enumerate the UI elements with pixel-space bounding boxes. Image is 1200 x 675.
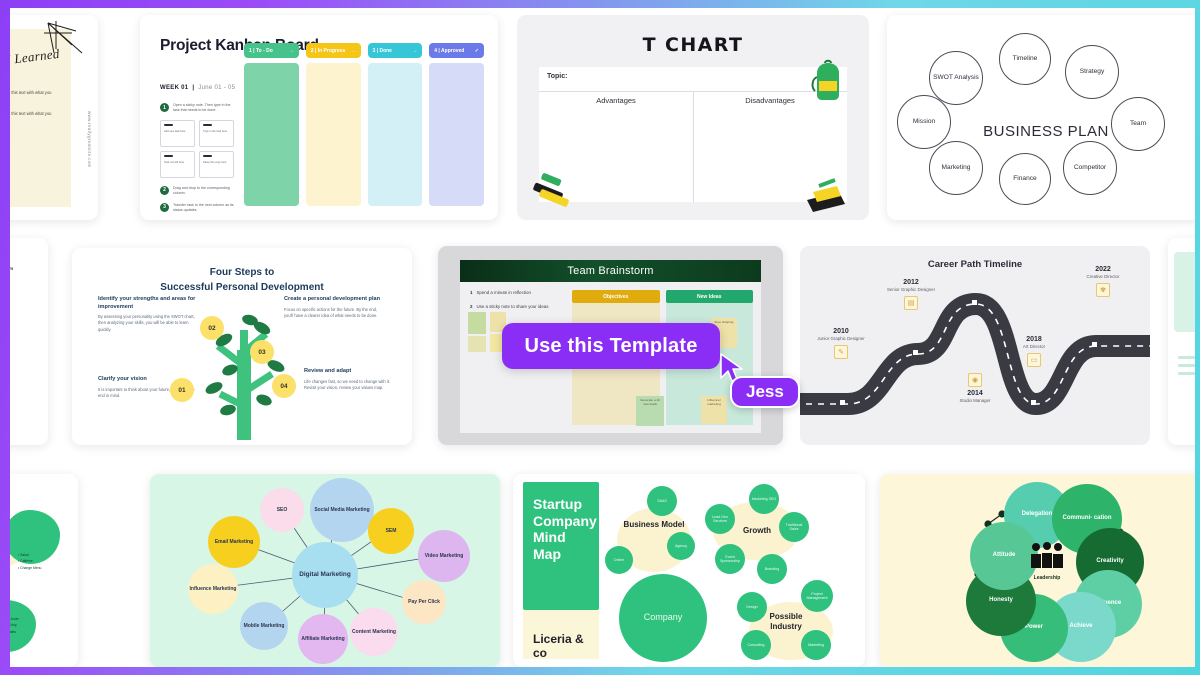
sticky-note-thumb: Task not still here: [160, 151, 195, 178]
template-card-leadership[interactable]: Delegation Communi- cation Creativity In…: [880, 474, 1195, 667]
sticky-note[interactable]: Influencer marketing: [701, 396, 727, 424]
use-this-template-button[interactable]: Use this Template: [502, 323, 720, 369]
kanban-column-header: 4 | Approved✓: [429, 43, 484, 58]
startup-brand-panel: Liceria & co: [523, 610, 599, 659]
decorative-shape: [1174, 252, 1195, 332]
sticky-note-thumb: Type in the task here: [199, 120, 234, 147]
startup-brand: Liceria & co: [533, 632, 589, 661]
business-plan-center-label: BUSINESS PLAN: [887, 123, 1195, 140]
kanban-column-body[interactable]: [368, 63, 423, 206]
business-plan-node[interactable]: SWOT Analysis: [929, 51, 983, 105]
business-plan-node[interactable]: Strategy: [1065, 45, 1119, 99]
pencil-icon: ✎: [834, 345, 848, 359]
kanban-column-body[interactable]: [429, 63, 484, 206]
kanban-column-header: 2 | In Progress→: [306, 43, 361, 58]
bubble-consulting[interactable]: Consulting: [741, 630, 771, 660]
mindmap-node-influence[interactable]: Influence Marketing: [188, 564, 238, 614]
topic-label: Topic:: [539, 67, 847, 80]
t-chart-sheet: Topic: Advantages Disadvantages: [539, 67, 847, 202]
mindmap-node-seo[interactable]: SEO: [260, 488, 304, 532]
bubble-saas[interactable]: SAAS: [647, 486, 677, 516]
list-item: You can replace this text with what you …: [10, 110, 58, 124]
startup-title-panel: Startup Company Mind Map: [523, 482, 599, 610]
gear-icon: ✾: [1096, 283, 1110, 297]
list-item: 2 Drag and drop to the corresponding col…: [160, 186, 238, 197]
timeline-node-2012: 2012 Senior Graphic Designer ▤: [880, 279, 942, 310]
startup-sidebar: Startup Company Mind Map Liceria & co: [523, 482, 599, 659]
template-card-four-steps[interactable]: Four Steps to Successful Personal Develo…: [72, 248, 412, 445]
mindmap-node-email[interactable]: Email Marketing: [208, 516, 260, 568]
template-card-career-timeline[interactable]: Career Path Timeline 2010 Junior Graphic…: [800, 246, 1150, 445]
startup-title: Startup Company Mind Map: [533, 496, 589, 562]
brainstorm-title: Team Brainstorm: [567, 265, 653, 277]
kanban-column[interactable]: 4 | Approved✓: [429, 43, 484, 206]
kanban-column-body[interactable]: [306, 63, 361, 206]
mindmap-node-content[interactable]: Content Marketing: [350, 608, 398, 656]
business-plan-node[interactable]: Finance: [999, 153, 1051, 205]
kanban-column-label: 2 | In Progress: [311, 48, 345, 54]
divider: [693, 91, 694, 202]
group-label-possible-industry: Possible Industry: [755, 612, 817, 631]
brainstorm-banner: Team Brainstorm: [460, 260, 761, 282]
decorative-line: [1178, 372, 1195, 375]
team-icon: [1027, 542, 1067, 568]
kanban-column[interactable]: 2 | In Progress→: [306, 43, 361, 206]
bubble-branding[interactable]: Branding: [757, 554, 787, 584]
bubble-marketing[interactable]: Marketing: [801, 630, 831, 660]
timeline-node-2010: 2010 Junior Graphic Designer ✎: [810, 328, 872, 359]
template-card-partial-left[interactable]: To Brainstorm: [10, 238, 48, 445]
mindmap-node-ppc[interactable]: Pay Per Click: [402, 580, 446, 624]
kanban-column-body[interactable]: [244, 63, 299, 206]
bubble-event-sponsorship[interactable]: Event Sponsorship: [715, 544, 745, 574]
backpack-illustration: [805, 59, 851, 103]
business-plan-node[interactable]: Marketing: [929, 141, 983, 195]
kanban-column[interactable]: 3 | Done→: [368, 43, 423, 206]
business-plan-node[interactable]: Mission: [897, 95, 951, 149]
step-badge-01: 01: [170, 378, 194, 402]
what-learned-bullets: You can replace this text with what you …: [10, 89, 58, 132]
decorative-line: [1178, 356, 1195, 359]
sticky-note-thumb: Add new task here: [160, 120, 195, 147]
step-badge-02: 02: [200, 316, 224, 340]
list-item: You can replace this text with what you …: [10, 89, 58, 103]
step-badge: 1: [160, 103, 169, 112]
kanban-column[interactable]: 1 | To - Do→: [244, 43, 299, 206]
kanban-instructions: 1 Open a sticky note. Then type in the t…: [160, 103, 238, 219]
sticky-note[interactable]: [468, 336, 486, 352]
template-card-t-chart[interactable]: T CHART Topic: Advantages Disadvantages: [517, 15, 869, 220]
list-item: 2 Use a sticky note to share your ideas: [470, 304, 566, 309]
sticky-note-thumbnails: Add new task here Type in the task here …: [160, 120, 234, 178]
bubble-online[interactable]: Online: [605, 546, 633, 574]
collaborator-cursor-label: Jess: [730, 376, 800, 408]
what-list-top: • Salad • Caffeine • Change Menu: [18, 552, 41, 571]
template-card-kanban[interactable]: Project Kanban Board WEEK 01 | June 01 -…: [140, 15, 498, 220]
step-badge: 2: [160, 186, 169, 195]
bubble-company-center[interactable]: Company: [619, 574, 707, 662]
starburst-icon: [42, 19, 88, 65]
bubble-agency[interactable]: Agency: [667, 532, 695, 560]
pencil-case-illustration: [799, 170, 853, 214]
timeline-node-2018: 2018 Art Director ▭: [1003, 336, 1065, 367]
monitor-icon: ▤: [904, 296, 918, 310]
t-chart-title: T CHART: [517, 34, 869, 56]
template-gallery: What I Learned You can replace this text…: [10, 8, 1195, 667]
step-block-4: Review and adapt Life changes fast, so w…: [304, 368, 402, 391]
step-badge: 3: [160, 203, 169, 212]
kanban-week: WEEK 01 | June 01 - 05: [160, 85, 235, 91]
leadership-center: Leadership: [1024, 542, 1070, 581]
bubble-project-management[interactable]: Project Management: [801, 580, 833, 612]
kanban-column-label: 4 | Approved: [434, 48, 464, 54]
site-url: www.reallygreatsite.com: [87, 111, 92, 168]
template-card-digital-marketing[interactable]: SEO Social Media Marketing SEM Video Mar…: [150, 474, 500, 667]
laptop-icon: ▭: [1027, 353, 1041, 367]
template-card-partial-right[interactable]: [1168, 238, 1195, 445]
kanban-column-arrow-icon: →: [351, 48, 356, 54]
template-gallery-frame: What I Learned You can replace this text…: [10, 8, 1195, 667]
partial-card-label: To Brainstorm: [10, 266, 13, 271]
four-steps-title: Four Steps to Successful Personal Develo…: [72, 266, 412, 295]
template-card-what-menu[interactable]: WHAT • Salad • Caffeine • Change Menu • …: [10, 474, 78, 667]
template-card-business-plan[interactable]: SWOT AnalysisTimelineStrategyTeamCompeti…: [887, 15, 1195, 220]
what-list-bottom: • Menu du Jouer • Sweet &Crisp • Menu Pi…: [10, 616, 19, 635]
sticky-note[interactable]: Generate a 10 new leads: [636, 396, 664, 426]
list-item: 1 Spend a minute in reflection: [470, 290, 566, 295]
road-illustration: [800, 288, 1150, 438]
kanban-column-header: 3 | Done→: [368, 43, 423, 58]
timeline-node-2014: ◉ 2014 Studio Manager: [944, 370, 1006, 404]
kanban-column-arrow-icon: ✓: [475, 48, 479, 54]
kanban-column-header: 1 | To - Do→: [244, 43, 299, 58]
kanban-column-label: 1 | To - Do: [249, 48, 273, 54]
kanban-column-arrow-icon: →: [412, 48, 417, 54]
mindmap-node-social-media[interactable]: Social Media Marketing: [310, 478, 374, 542]
decorative-line: [1178, 364, 1195, 367]
sticky-note[interactable]: [468, 312, 486, 334]
mindmap-node-video[interactable]: Video Marketing: [418, 530, 470, 582]
timeline-node-2022: 2022 Creative Director ✾: [1072, 266, 1134, 297]
markers-illustration: [529, 172, 581, 212]
list-item: 3 Transfer task to the next column as it…: [160, 203, 238, 214]
business-plan-diagram: SWOT AnalysisTimelineStrategyTeamCompeti…: [887, 15, 1195, 220]
template-card-startup-mindmap[interactable]: Startup Company Mind Map Liceria & co SA…: [513, 474, 865, 667]
step-block-2: Identify your strengths and areas for im…: [98, 296, 196, 333]
group-label-business-model: Business Model: [623, 520, 685, 530]
group-label-growth: Growth: [729, 526, 785, 536]
sticky-note-thumb: Paste this copy here: [199, 151, 234, 178]
kanban-column-label: 3 | Done: [373, 48, 392, 54]
template-card-what-learned[interactable]: What I Learned You can replace this text…: [10, 15, 98, 220]
step-badge-04: 04: [272, 374, 296, 398]
column-header-advantages: Advantages: [539, 96, 693, 105]
mindmap-node-center[interactable]: Digital Marketing: [292, 542, 358, 608]
business-plan-node[interactable]: Timeline: [999, 33, 1051, 85]
list-item: 1 Open a sticky note. Then type in the t…: [160, 103, 238, 114]
mindmap-node-mobile[interactable]: Mobile Marketing: [240, 602, 288, 650]
bubble-marketing-seo[interactable]: Marketing SEO: [749, 484, 779, 514]
step-badge-03: 03: [250, 340, 274, 364]
mindmap-node-sem[interactable]: SEM: [368, 508, 414, 554]
kanban-columns: 1 | To - Do→2 | In Progress→3 | Done→4 |…: [244, 43, 484, 206]
kanban-column-arrow-icon: →: [289, 48, 294, 54]
business-plan-node[interactable]: Competitor: [1063, 141, 1117, 195]
mindmap-node-affiliate[interactable]: Affiliate Marketing: [298, 614, 348, 664]
camera-icon: ◉: [968, 373, 982, 387]
